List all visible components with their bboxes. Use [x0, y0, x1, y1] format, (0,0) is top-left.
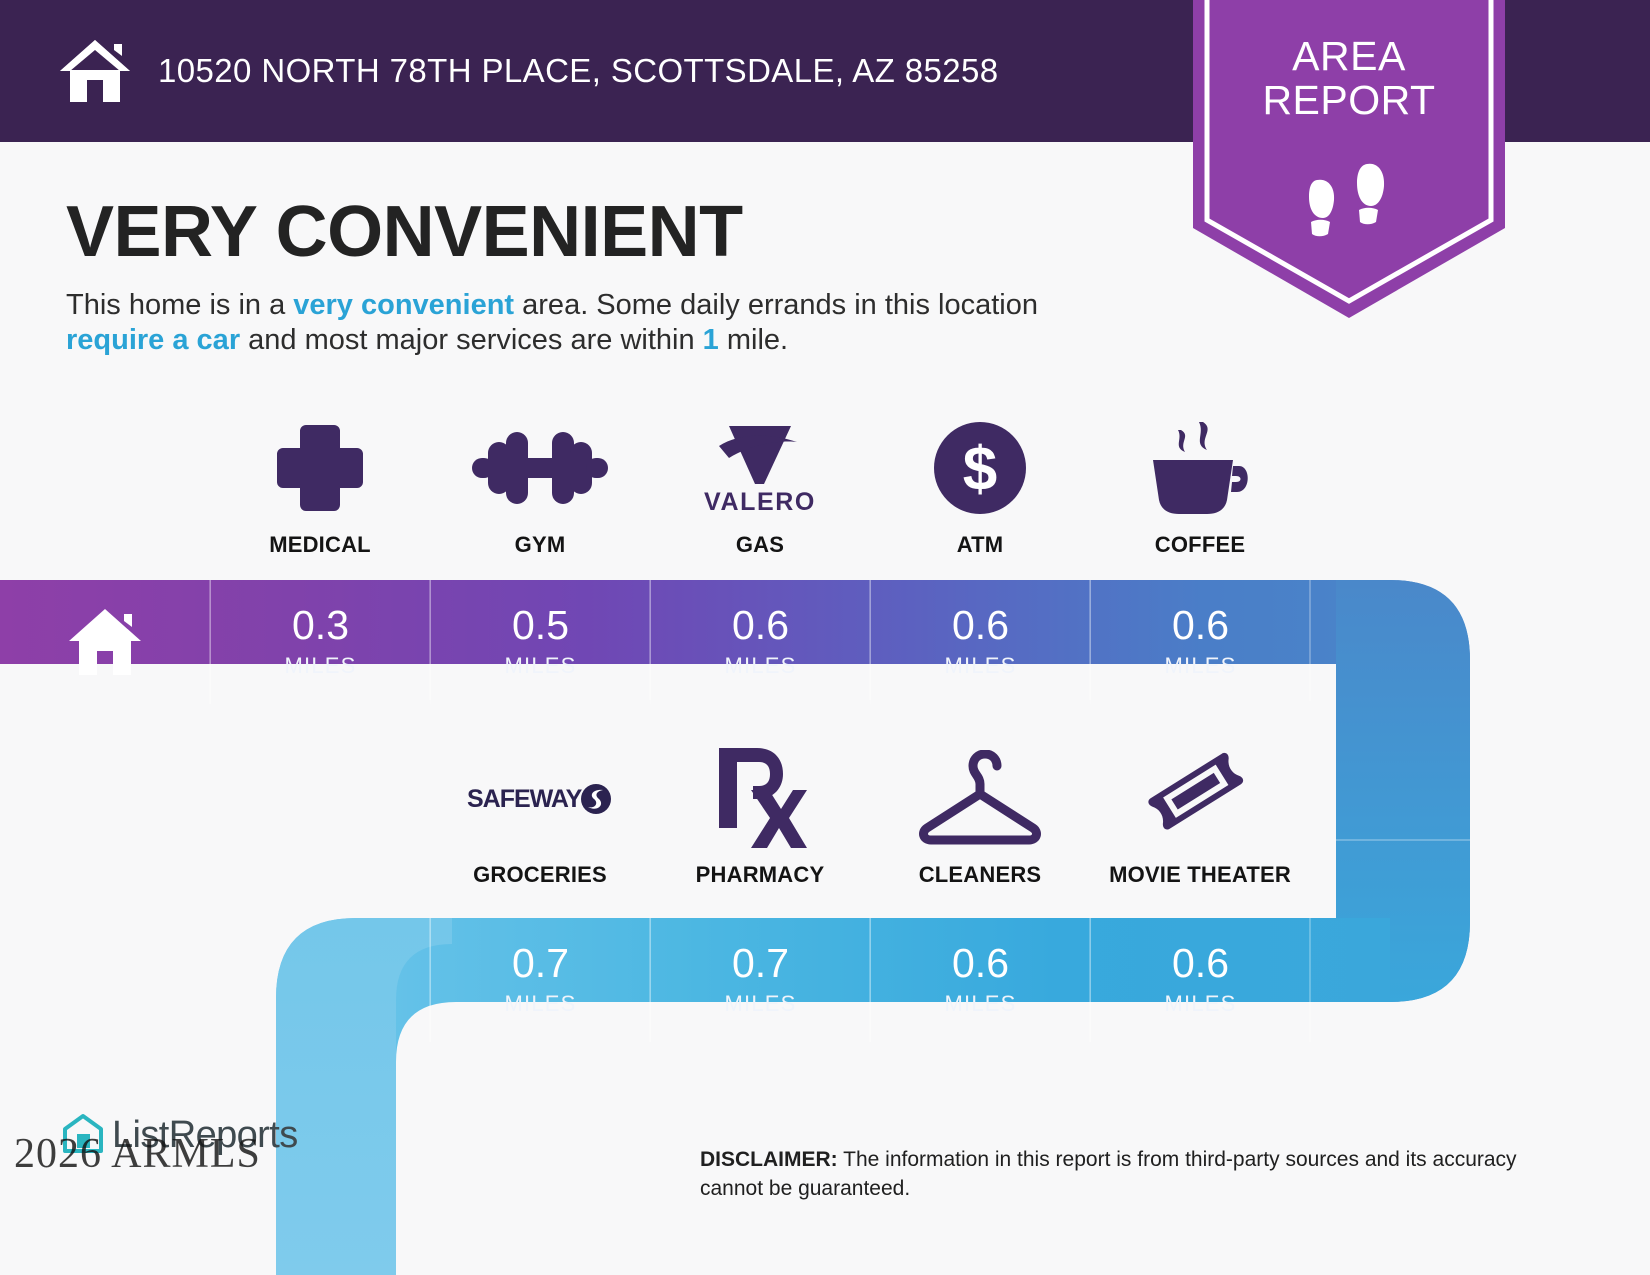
- category-groceries: SAFEWAY GROCERIES: [430, 750, 650, 888]
- distance-value: 0.7: [512, 943, 569, 984]
- disclaimer-text: DISCLAIMER: The information in this repo…: [700, 1146, 1530, 1204]
- distance-unit: MILES: [1164, 991, 1236, 1017]
- dumbbell-icon: [472, 420, 608, 516]
- category-label: PHARMACY: [696, 862, 825, 888]
- distance-value: 0.6: [952, 605, 1009, 646]
- svg-text:SAFEWAY: SAFEWAY: [467, 785, 583, 813]
- home-marker-cell: [0, 580, 210, 704]
- distance-unit: MILES: [944, 991, 1016, 1017]
- medical-cross-icon: [273, 420, 367, 516]
- area-report-page: 10520 NORTH 78TH PLACE, SCOTTSDALE, AZ 8…: [0, 0, 1650, 1275]
- distance-cell-gas: 0.6 MILES: [650, 580, 870, 704]
- category-coffee: COFFEE: [1090, 420, 1310, 558]
- category-pharmacy: PHARMACY: [650, 750, 870, 888]
- distance-value: 0.6: [732, 605, 789, 646]
- distance-unit: MILES: [504, 653, 576, 679]
- distance-cell-medical: 0.3 MILES: [210, 580, 430, 704]
- distance-value: 0.3: [292, 605, 349, 646]
- disclaimer-label: DISCLAIMER:: [700, 1148, 838, 1171]
- area-report-badge: AREA REPORT: [1193, 0, 1505, 318]
- distance-unit: MILES: [284, 653, 356, 679]
- category-label: ATM: [957, 532, 1004, 558]
- distance-cell-movie-theater: 0.6 MILES: [1090, 918, 1310, 1042]
- distance-cell-pharmacy: 0.7 MILES: [650, 918, 870, 1042]
- footprints-icon: [1301, 156, 1399, 242]
- category-label: GYM: [515, 532, 566, 558]
- valero-logo-icon: VALERO: [685, 420, 835, 516]
- rx-icon: [713, 750, 807, 846]
- category-icon-row-1: MEDICAL GYM: [210, 420, 1390, 558]
- distance-cell-gym: 0.5 MILES: [430, 580, 650, 704]
- distance-cell-cleaners: 0.6 MILES: [870, 918, 1090, 1042]
- category-gas: VALERO GAS: [650, 420, 870, 558]
- category-label: COFFEE: [1155, 532, 1245, 558]
- category-label: GAS: [736, 532, 784, 558]
- distance-value: 0.6: [1172, 943, 1229, 984]
- home-icon: [58, 38, 132, 104]
- distance-unit: MILES: [1164, 653, 1236, 679]
- category-medical: MEDICAL: [210, 420, 430, 558]
- clothes-hanger-icon: [917, 750, 1043, 846]
- category-label: MOVIE THEATER: [1109, 862, 1291, 888]
- category-gym: GYM: [430, 420, 650, 558]
- distance-value: 0.7: [732, 943, 789, 984]
- svg-text:VALERO: VALERO: [704, 488, 816, 514]
- home-icon: [67, 607, 143, 677]
- category-icon-row-2: SAFEWAY GROCERIES PHARMACY: [430, 750, 1410, 888]
- property-address: 10520 NORTH 78TH PLACE, SCOTTSDALE, AZ 8…: [158, 52, 999, 90]
- category-label: CLEANERS: [919, 862, 1042, 888]
- distance-value: 0.5: [512, 605, 569, 646]
- category-atm: $ ATM: [870, 420, 1090, 558]
- safeway-logo-icon: SAFEWAY: [465, 750, 615, 846]
- distance-row-1: 0.3 MILES 0.5 MILES 0.6 MILES 0.6 MILES …: [210, 580, 1310, 704]
- movie-ticket-icon: [1146, 750, 1254, 846]
- dollar-coin-icon: $: [932, 420, 1028, 516]
- distance-unit: MILES: [944, 653, 1016, 679]
- distance-unit: MILES: [504, 991, 576, 1017]
- coffee-cup-icon: [1147, 420, 1253, 516]
- distance-cell-groceries: 0.7 MILES: [430, 918, 650, 1042]
- distance-cell-coffee: 0.6 MILES: [1090, 580, 1310, 704]
- distance-row-2: 0.7 MILES 0.7 MILES 0.6 MILES 0.6 MILES: [430, 918, 1310, 1042]
- svg-text:$: $: [963, 435, 997, 504]
- distance-unit: MILES: [724, 653, 796, 679]
- category-label: GROCERIES: [473, 862, 607, 888]
- armls-watermark: 2026 ARMLS: [14, 1130, 261, 1178]
- distance-cell-atm: 0.6 MILES: [870, 580, 1090, 704]
- category-cleaners: CLEANERS: [870, 750, 1090, 888]
- distance-unit: MILES: [724, 991, 796, 1017]
- distance-value: 0.6: [952, 943, 1009, 984]
- distance-value: 0.6: [1172, 605, 1229, 646]
- category-movie-theater: MOVIE THEATER: [1090, 750, 1310, 888]
- category-label: MEDICAL: [269, 532, 371, 558]
